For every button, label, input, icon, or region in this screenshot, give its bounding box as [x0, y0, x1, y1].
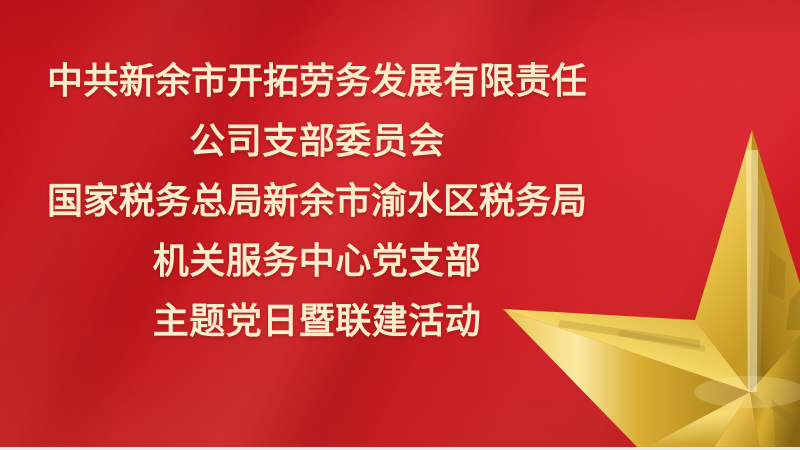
title-line-3: 国家税务总局新余市渝水区税务局: [0, 172, 634, 232]
title-line-2: 公司支部委员会: [0, 112, 634, 172]
title-text-block: 中共新余市开拓劳务发展有限责任 公司支部委员会 国家税务总局新余市渝水区税务局 …: [0, 52, 634, 352]
title-line-1: 中共新余市开拓劳务发展有限责任: [0, 52, 634, 112]
title-line-4: 机关服务中心党支部: [0, 232, 634, 292]
banner-canvas: 中共新余市开拓劳务发展有限责任 公司支部委员会 国家税务总局新余市渝水区税务局 …: [0, 0, 800, 450]
title-line-5: 主题党日暨联建活动: [0, 292, 634, 352]
